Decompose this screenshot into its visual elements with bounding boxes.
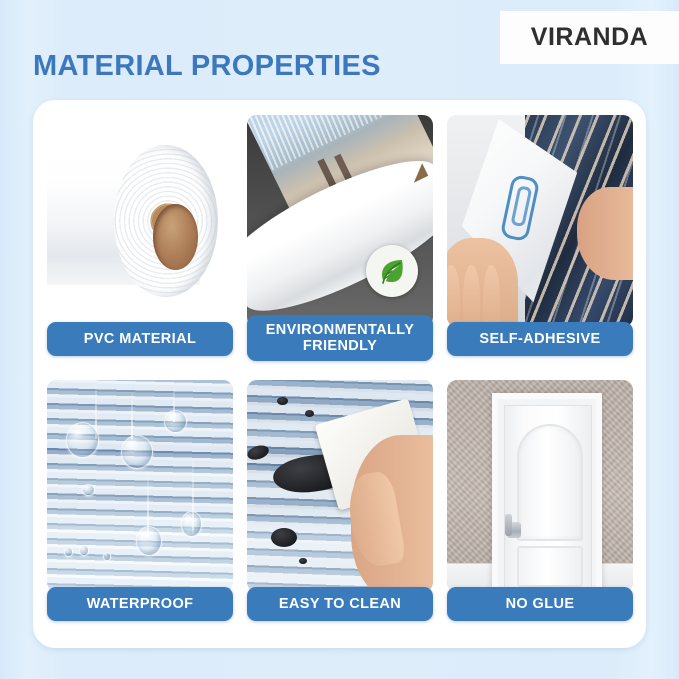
feature-label-line1: ENVIRONMENTALLY: [266, 322, 415, 338]
page-title: MATERIAL PROPERTIES: [33, 50, 381, 83]
feature-tile-pvc-material: PVC MATERIAL: [47, 115, 233, 368]
brand-logo: VIRANDA: [500, 11, 679, 64]
dark-stain: [271, 528, 297, 547]
water-droplet: [181, 511, 202, 536]
feature-tile-environmentally-friendly: ENVIRONMENTALLY FRIENDLY: [247, 115, 433, 368]
door-slab: [504, 405, 593, 592]
water-droplet: [103, 552, 112, 561]
finger: [447, 265, 460, 327]
door-handle: [507, 522, 521, 539]
water-trail: [131, 393, 133, 440]
feature-label-self-adhesive: SELF-ADHESIVE: [447, 322, 633, 356]
wiping-stains-photo: [247, 380, 433, 592]
leaf-icon: [376, 255, 408, 287]
pvc-roll-core: [153, 204, 198, 270]
peeling-wallpaper-photo: [247, 115, 433, 327]
left-hand: [447, 238, 518, 327]
water-droplet: [136, 526, 162, 556]
water-droplet: [82, 484, 94, 497]
brand-logo-text: VIRANDA: [531, 23, 648, 52]
water-droplet: [164, 410, 186, 433]
feature-tile-no-glue: NO GLUE: [447, 380, 633, 633]
feature-tile-waterproof: WATERPROOF: [47, 380, 233, 633]
feature-label-easy-to-clean: EASY TO CLEAN: [247, 587, 433, 621]
water-droplet: [79, 545, 89, 555]
green-leaf-eco-badge: [366, 245, 418, 297]
dark-stain: [299, 558, 306, 564]
feature-tile-self-adhesive: SELF-ADHESIVE: [447, 115, 633, 368]
features-grid: PVC MATERIAL: [47, 115, 633, 633]
feature-tile-easy-to-clean: EASY TO CLEAN: [247, 380, 433, 633]
water-droplet: [121, 435, 153, 469]
white-door-photo: [447, 380, 633, 592]
feature-label-environmentally-friendly: ENVIRONMENTALLY FRIENDLY: [247, 315, 433, 361]
feature-label-no-glue: NO GLUE: [447, 587, 633, 621]
infographic-page: VIRANDA MATERIAL PROPERTIES PVC MATERIAL: [0, 0, 679, 679]
water-droplets-photo: [47, 380, 233, 592]
feature-label-pvc-material: PVC MATERIAL: [47, 322, 233, 356]
water-droplet: [66, 422, 100, 458]
door-panel-lower: [517, 546, 583, 587]
finger: [483, 265, 500, 327]
door-frame: [492, 393, 603, 592]
feature-label-waterproof: WATERPROOF: [47, 587, 233, 621]
finger: [463, 265, 480, 327]
water-droplet: [64, 547, 73, 557]
hands-peeling-film-photo: [447, 115, 633, 327]
paperclip-icon: [499, 174, 540, 242]
pvc-roll-photo: [47, 115, 233, 327]
feature-label-line2: FRIENDLY: [303, 338, 377, 354]
door-panel-upper: [517, 424, 583, 540]
dark-stain: [305, 410, 314, 417]
dark-stain: [247, 443, 271, 462]
dark-stain: [277, 397, 288, 405]
